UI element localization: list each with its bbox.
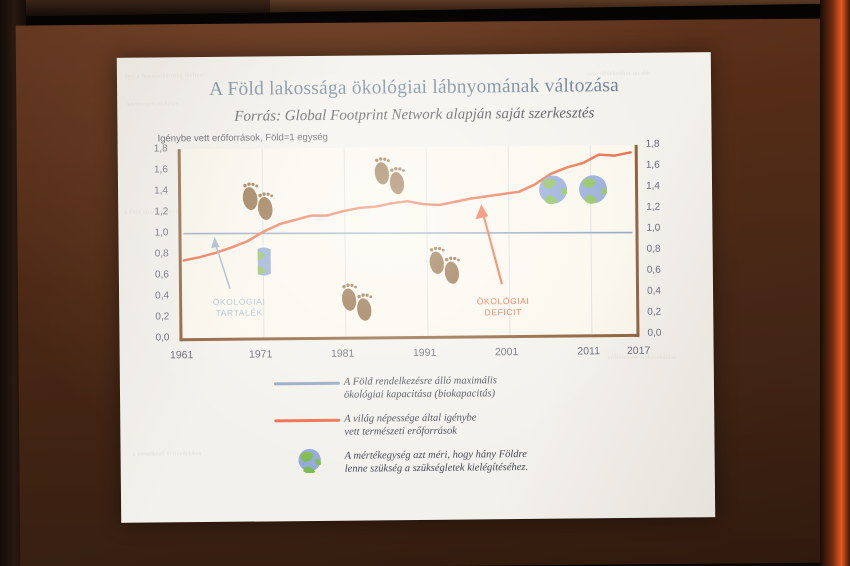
x-tick: 1991	[405, 347, 445, 359]
y-tick-left: 0,6	[143, 269, 169, 280]
legend-swatch-biocapacity	[270, 376, 344, 391]
y-tick-right: 1,6	[646, 160, 672, 171]
y-tick-right: 0,6	[647, 265, 673, 276]
y-tick-right: 0,0	[647, 328, 673, 339]
room-wall-right	[820, 0, 850, 566]
globe-icon	[579, 175, 607, 204]
half-globe-icon	[250, 247, 278, 275]
legend-swatch-globe	[271, 450, 345, 465]
legend-label: A Föld rendelkezésre álló maximális ökol…	[344, 374, 497, 401]
y-tick-left: 1,4	[142, 185, 168, 196]
y-tick-right: 1,2	[646, 202, 672, 213]
annotation-ecological-deficit: ÖKOLÓGIAI DEFICIT	[467, 296, 539, 319]
y-tick-left: 0,8	[143, 248, 169, 259]
globe-icon	[297, 447, 323, 473]
y-tick-right: 1,0	[646, 223, 672, 234]
x-tick: 1961	[162, 349, 202, 361]
x-tick: 2017	[619, 345, 659, 357]
y-tick-left: 0,4	[143, 290, 169, 301]
presentation-slide: ami a fenntarthatóság mellett környezeti…	[117, 52, 715, 523]
chart-legend: A Föld rendelkezésre álló maximális ökol…	[270, 373, 601, 487]
x-tick: 2001	[487, 346, 527, 358]
y-tick-right: 0,2	[647, 307, 673, 318]
page-title: A Föld lakossága ökológiai lábnyomának v…	[117, 74, 711, 102]
legend-swatch-footprint	[270, 413, 344, 428]
y-tick-left: 1,0	[142, 227, 168, 238]
x-tick: 1981	[323, 348, 363, 360]
biocapacity-line	[183, 229, 632, 237]
x-tick: 1971	[241, 348, 281, 360]
footprint-chart: ÖKOLÓGIAI TARTALÉK ÖKOLÓGIAI DEFICIT 1,8…	[130, 144, 702, 364]
projected-slide-photo: ami a fenntarthatóság mellett környezeti…	[0, 0, 850, 566]
ecological-reserve-arrow	[211, 237, 230, 289]
legend-item: A Föld rendelkezésre álló maximális ökol…	[270, 373, 600, 402]
y-tick-left: 1,8	[142, 143, 168, 154]
y-tick-right: 0,8	[647, 244, 673, 255]
y-tick-right: 0,4	[647, 286, 673, 297]
y-tick-left: 1,2	[142, 206, 168, 217]
slide-subtitle: Forrás: Global Footprint Network alapján…	[117, 104, 711, 127]
legend-item: A világ népessége által igénybe vett ter…	[270, 410, 600, 439]
y-tick-left: 0,0	[143, 332, 169, 343]
x-tick: 2011	[569, 345, 609, 357]
legend-label: A mértékegység azt méri, hogy hány Földr…	[345, 448, 529, 476]
y-tick-right: 1,4	[646, 181, 672, 192]
plot-area: ÖKOLÓGIAI TARTALÉK ÖKOLÓGIAI DEFICIT	[178, 145, 640, 341]
globe-icon	[539, 176, 567, 205]
y-axis-unit-note: Igénybe vett erőforrások, Föld=1 egység	[158, 132, 328, 145]
legend-item: A mértékegység azt méri, hogy hány Földr…	[271, 447, 601, 476]
y-tick-left: 1,6	[142, 164, 168, 175]
y-tick-left: 0,2	[143, 311, 169, 322]
ecological-deficit-arrow	[475, 204, 502, 284]
annotation-ecological-reserve: ÖKOLÓGIAI TARTALÉK	[204, 296, 274, 319]
y-tick-right: 1,8	[646, 139, 672, 150]
legend-label: A világ népessége által igénybe vett ter…	[344, 411, 476, 438]
